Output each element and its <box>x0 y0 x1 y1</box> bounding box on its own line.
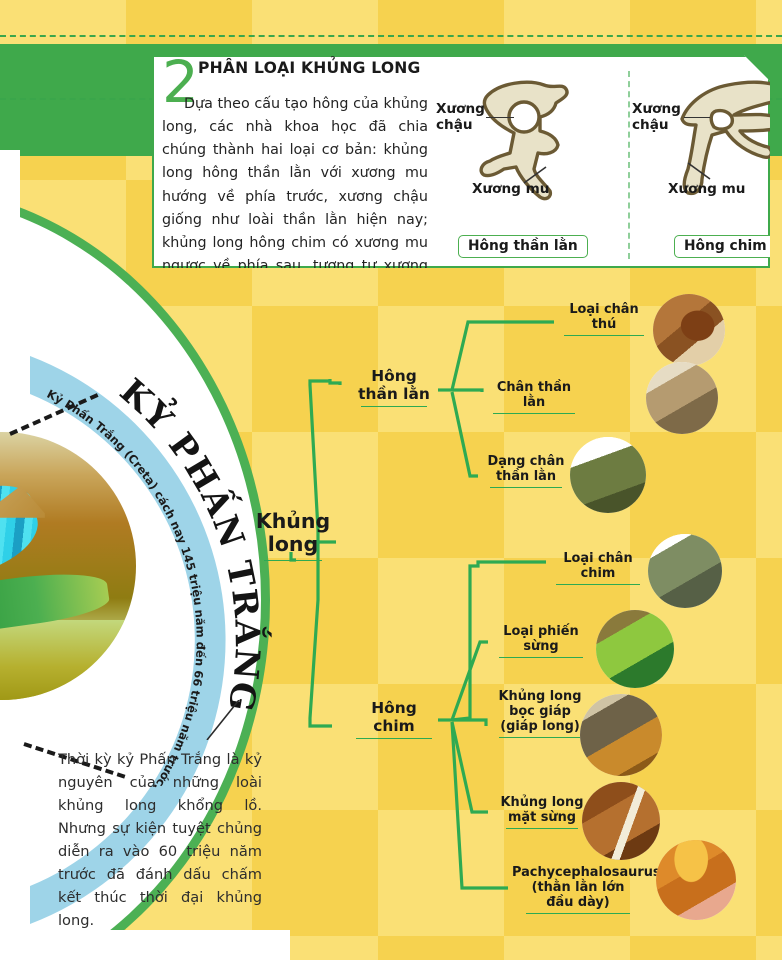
ankylosaur-icon <box>580 694 662 776</box>
stegosaur-image <box>596 610 674 688</box>
trex-head-image <box>653 294 725 366</box>
bone-diagram-saurischian: Xương chậu Xương mu Hông thần lằn <box>436 73 616 258</box>
tree-leaf-sauropod-form[interactable]: Dạng chân thần lằn <box>482 455 570 488</box>
pubis-label: Xương mu <box>668 181 745 197</box>
ceratopsian-icon <box>582 782 660 860</box>
sauropod-head-image <box>646 362 718 434</box>
tree-leaf-label: Chân thần lằn <box>497 380 571 410</box>
underline-rule <box>490 487 562 488</box>
sauropod-head-icon <box>646 362 718 434</box>
tree-leaf-label: Loại phiến sừng <box>503 624 578 654</box>
tree-node-ornithischian-label: Hông chim <box>371 699 416 735</box>
underline-rule <box>499 737 581 738</box>
pelvis-label: Xương chậu <box>632 101 681 133</box>
tree-leaf-ankylosaur[interactable]: Khủng long bọc giáp (giáp long) <box>492 690 588 738</box>
underline-rule <box>564 335 644 336</box>
tree-leaf-label: Loại chân thú <box>569 302 638 332</box>
saur-branch-3 <box>452 392 478 476</box>
pelvis-tick <box>684 117 710 118</box>
long-neck-icon <box>570 437 646 513</box>
trex-head-icon <box>653 294 725 366</box>
ankylosaur-image <box>580 694 662 776</box>
pubis-tick <box>686 161 712 181</box>
tree-leaf-pachycephalosaur[interactable]: Pachycephalosaurus (thằn lằn lớn đầu dày… <box>512 866 644 914</box>
underline-rule <box>356 738 432 739</box>
tree-leaf-theropod[interactable]: Loại chân thú <box>556 303 652 336</box>
section-card: 2 PHÂN LOẠI KHỦNG LONG Dựa theo cấu tạo … <box>152 55 770 268</box>
tree-leaf-stegosaur[interactable]: Loại phiến sừng <box>492 625 590 658</box>
tree-leaf-label: Pachycephalosaurus (thằn lằn lớn đầu dày… <box>512 865 661 910</box>
tree-leaf-label: Khủng long mặt sừng <box>501 795 584 825</box>
tree-leaf-sauropodomorph[interactable]: Chân thần lằn <box>486 381 582 414</box>
pachycephalosaur-image <box>656 840 736 920</box>
underline-rule <box>361 406 427 407</box>
saur-branch-2 <box>452 390 482 392</box>
underline-rule <box>506 828 578 829</box>
ornithischian-hip-tag: Hông chim <box>674 235 777 258</box>
pelvis-label: Xương chậu <box>436 101 485 133</box>
spine-top-hook <box>330 379 340 385</box>
underline-rule <box>556 584 640 585</box>
pubis-tick <box>522 165 548 185</box>
tree-node-ornithischian[interactable]: Hông chim <box>352 700 436 739</box>
underline-rule <box>264 560 322 561</box>
tree-leaf-ornithopod[interactable]: Loại chân chim <box>548 552 648 585</box>
bone-diagram-ornithischian: Xương chậu Xương mu Hông chim <box>632 73 782 258</box>
tree-node-root-label: Khủng long <box>256 509 330 556</box>
underline-rule <box>499 657 583 658</box>
orni-branch-3 <box>452 720 486 726</box>
pachycephalosaur-icon <box>656 840 736 920</box>
ornithopod-head-icon <box>648 534 722 608</box>
ornithopod-head-image <box>648 534 722 608</box>
ceratopsian-image <box>582 782 660 860</box>
tree-node-root[interactable]: Khủng long <box>254 510 332 561</box>
tree-leaf-label: Dạng chân thần lằn <box>488 454 565 484</box>
tree-leaf-label: Khủng long bọc giáp (giáp long) <box>499 689 582 734</box>
tree-node-saurischian[interactable]: Hông thần lằn <box>352 368 436 407</box>
stegosaur-icon <box>596 610 674 688</box>
long-neck-image <box>570 437 646 513</box>
tree-node-saurischian-label: Hông thần lằn <box>358 367 430 403</box>
underline-rule <box>493 413 575 414</box>
tree-leaf-ceratopsian[interactable]: Khủng long mặt sừng <box>494 796 590 829</box>
pelvis-tick <box>486 117 514 118</box>
underline-rule <box>526 913 630 914</box>
bone-diagram-divider <box>628 71 630 259</box>
infographic-page: Kỷ Phấn Trắng (Creta) cách nay 145 triệu… <box>0 0 782 960</box>
saurischian-hip-tag: Hông thần lằn <box>458 235 588 258</box>
section-title: PHÂN LOẠI KHỦNG LONG <box>198 59 421 77</box>
tree-leaf-label: Loại chân chim <box>563 551 632 581</box>
